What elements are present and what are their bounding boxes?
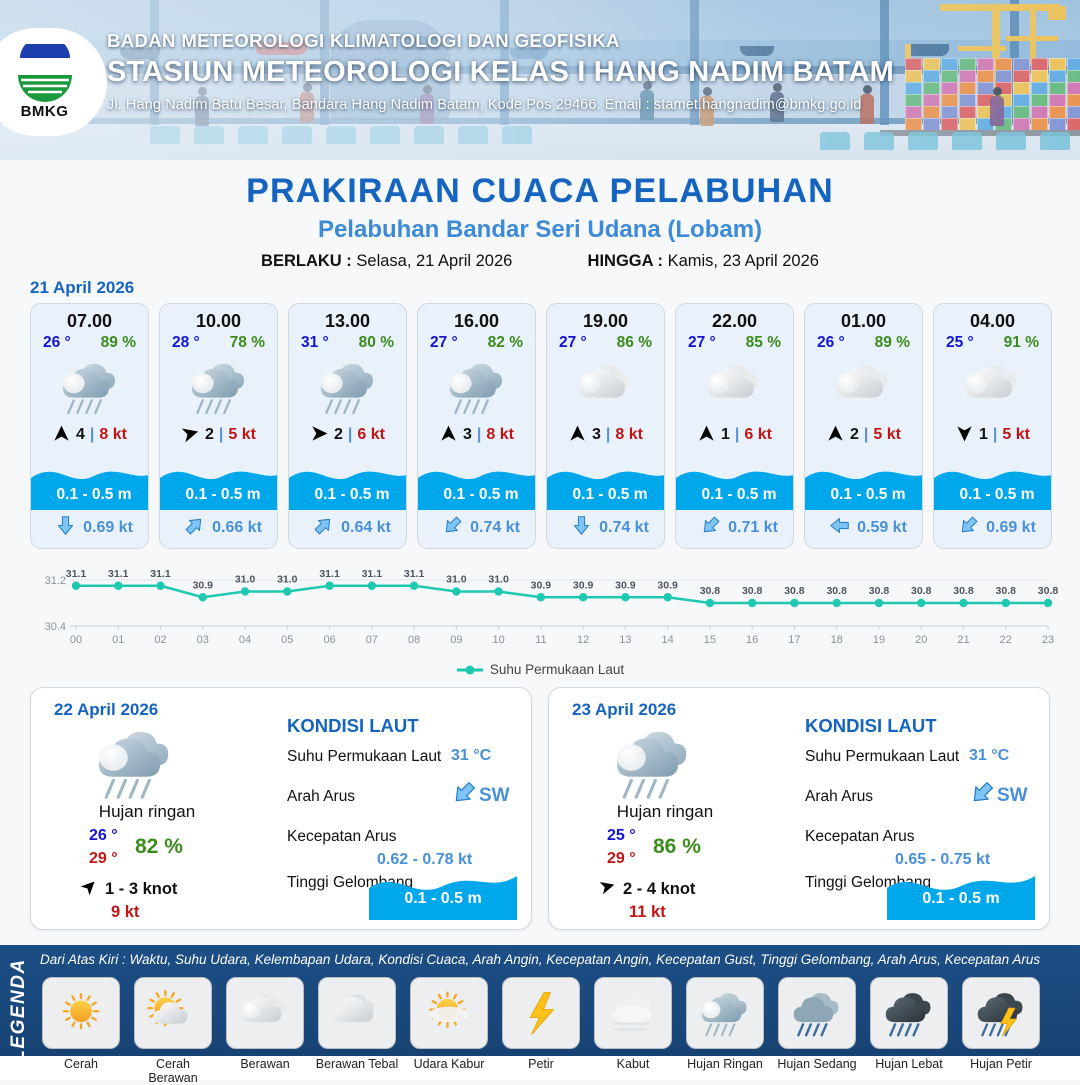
wind-direction-icon — [955, 424, 974, 446]
card-separator: | — [477, 426, 481, 444]
card-current-speed: 0.71 kt — [728, 519, 778, 537]
card-wave-height: 0.1 - 0.5 m — [418, 480, 536, 510]
card-current-speed: 0.59 kt — [857, 519, 907, 537]
sea-conditions-header: KONDISI LAUT — [287, 715, 419, 737]
sst-label: Suhu Permukaan Laut — [287, 748, 441, 766]
card-humidity: 80 % — [359, 334, 394, 352]
current-direction-icon — [451, 780, 477, 811]
agency-name: BADAN METEOROLOGI KLIMATOLOGI DAN GEOFIS… — [107, 30, 1067, 52]
current-direction-label: Arah Arus — [287, 788, 355, 806]
legend-icon-overcast — [318, 977, 396, 1049]
daily-gust: 9 kt — [111, 903, 139, 922]
card-temperature: 27 ° — [430, 334, 458, 352]
current-direction-icon — [55, 515, 76, 541]
card-temperature: 27 ° — [688, 334, 716, 352]
wind-direction-icon — [439, 424, 458, 446]
daily-condition: Hujan ringan — [549, 802, 781, 822]
card-wind-speed: 3 — [463, 426, 472, 444]
current-direction-icon — [700, 515, 721, 541]
card-current-row: 0.66 kt — [160, 512, 278, 544]
current-direction-icon — [571, 515, 592, 541]
card-temperature: 31 ° — [301, 334, 329, 352]
card-wind-row: 1|6 kt — [676, 421, 793, 449]
legend-icon-light-rain — [686, 977, 764, 1049]
hourly-card[interactable]: 10.0028 °78 %2|5 kt0.1 - 0.5 m0.66 kt — [159, 303, 278, 549]
legend-item-label: Hujan Ringan — [682, 1057, 768, 1085]
current-direction-value: SW — [997, 785, 1028, 807]
legend-item-label: Hujan Petir — [958, 1057, 1044, 1085]
current-direction-icon — [969, 780, 995, 811]
card-wind-speed: 2 — [205, 426, 214, 444]
daily-temp-max: 29 ° — [89, 850, 118, 868]
svg-text:17: 17 — [788, 634, 800, 646]
current-direction-icon — [313, 515, 334, 541]
header-text-block: BADAN METEOROLOGI KLIMATOLOGI DAN GEOFIS… — [107, 30, 1067, 113]
daily-panel: 23 April 2026Hujan ringan25 °29 °86 %2 -… — [548, 687, 1050, 930]
hourly-card[interactable]: 01.0026 °89 %2|5 kt0.1 - 0.5 m0.59 kt — [804, 303, 923, 549]
svg-text:31.0: 31.0 — [446, 574, 467, 586]
hourly-card[interactable]: 04.0025 °91 %1|5 kt0.1 - 0.5 m0.69 kt — [933, 303, 1052, 549]
wind-direction-icon — [181, 424, 200, 446]
card-wave-height: 0.1 - 0.5 m — [934, 480, 1052, 510]
card-current-row: 0.74 kt — [418, 512, 536, 544]
daily-wind-value: 2 - 4 knot — [623, 880, 695, 899]
current-direction-label: Arah Arus — [805, 788, 873, 806]
daily-wind: 1 - 3 knot — [81, 878, 177, 900]
svg-text:03: 03 — [197, 634, 209, 646]
legend-item-label: Udara Kabur — [406, 1057, 492, 1085]
card-temp-hum-row: 27 °82 % — [418, 332, 535, 352]
card-wave-height: 0.1 - 0.5 m — [547, 480, 665, 510]
card-temp-hum-row: 25 °91 % — [934, 332, 1051, 352]
daily-temp-min: 26 ° — [89, 827, 118, 845]
svg-text:31.1: 31.1 — [319, 568, 340, 580]
card-gust: 8 kt — [486, 426, 514, 444]
legend-item-label: Berawan — [222, 1057, 308, 1085]
card-wind-row: 1|5 kt — [934, 421, 1051, 449]
bmkg-logo: BMKG — [0, 28, 107, 136]
current-speed-label: Kecepatan Arus — [805, 828, 914, 846]
svg-text:30.8: 30.8 — [996, 585, 1017, 597]
svg-text:11: 11 — [535, 634, 546, 646]
svg-text:30.8: 30.8 — [742, 585, 763, 597]
card-current-row: 0.64 kt — [289, 512, 407, 544]
card-humidity: 86 % — [617, 334, 652, 352]
card-humidity: 89 % — [875, 334, 910, 352]
card-wind-row: 3|8 kt — [547, 421, 664, 449]
svg-text:30.8: 30.8 — [953, 585, 974, 597]
svg-text:22: 22 — [1000, 634, 1012, 646]
hingga-label: HINGGA : — [588, 252, 663, 270]
daily-wind-value: 1 - 3 knot — [105, 880, 177, 899]
svg-text:30.8: 30.8 — [784, 585, 805, 597]
card-current-speed: 0.69 kt — [986, 519, 1036, 537]
card-separator: | — [735, 426, 739, 444]
legend-icon-moderate-rain — [778, 977, 856, 1049]
card-weather-icon — [418, 353, 535, 421]
card-wind-row: 2|5 kt — [805, 421, 922, 449]
card-weather-icon — [805, 353, 922, 421]
card-current-row: 0.59 kt — [805, 512, 923, 544]
wind-direction-icon — [568, 424, 587, 446]
legend-item-label: Hujan Lebat — [866, 1057, 952, 1085]
svg-text:30.8: 30.8 — [869, 585, 890, 597]
card-current-row: 0.69 kt — [934, 512, 1052, 544]
card-temperature: 28 ° — [172, 334, 200, 352]
svg-text:30.9: 30.9 — [615, 579, 636, 591]
chart-legend-label: Suhu Permukaan Laut — [490, 662, 624, 677]
legend-item-label: Cerah Berawan — [130, 1057, 216, 1085]
card-current-row: 0.69 kt — [31, 512, 149, 544]
svg-text:10: 10 — [492, 634, 504, 646]
card-current-row: 0.71 kt — [676, 512, 794, 544]
svg-text:31.2: 31.2 — [45, 575, 66, 587]
card-time: 22.00 — [676, 311, 793, 332]
daily-temp-max: 29 ° — [607, 850, 636, 868]
card-wind-row: 2|6 kt — [289, 421, 406, 449]
card-time: 19.00 — [547, 311, 664, 332]
sst-value: 31 °C — [451, 747, 491, 765]
svg-text:30.9: 30.9 — [531, 579, 552, 591]
card-wind-row: 4|8 kt — [31, 421, 148, 449]
wind-direction-icon — [826, 424, 845, 446]
legend-icon-partly-cloudy — [134, 977, 212, 1049]
wave-height-value: 0.1 - 0.5 m — [887, 890, 1035, 908]
current-direction-value: SW — [479, 785, 510, 807]
card-wind-speed: 1 — [979, 426, 988, 444]
card-separator: | — [90, 426, 94, 444]
card-current-speed: 0.74 kt — [470, 519, 520, 537]
svg-text:31.1: 31.1 — [108, 568, 129, 580]
svg-text:05: 05 — [281, 634, 293, 646]
legend-icon-lightning — [502, 977, 580, 1049]
hourly-date-label: 21 April 2026 — [30, 278, 134, 298]
card-wave-height: 0.1 - 0.5 m — [160, 480, 278, 510]
svg-text:30.8: 30.8 — [700, 585, 721, 597]
svg-text:16: 16 — [746, 634, 758, 646]
card-temperature: 26 ° — [817, 334, 845, 352]
svg-text:30.9: 30.9 — [573, 579, 594, 591]
legend-icon-fog — [594, 977, 672, 1049]
card-time: 04.00 — [934, 311, 1051, 332]
legend-icon-haze — [410, 977, 488, 1049]
hingga-value: Kamis, 23 April 2026 — [668, 252, 819, 270]
svg-text:14: 14 — [662, 634, 674, 646]
svg-text:30.8: 30.8 — [826, 585, 847, 597]
bmkg-logo-text: BMKG — [21, 103, 69, 120]
daily-panel: 22 April 2026Hujan ringan26 °29 °82 %1 -… — [30, 687, 532, 930]
card-separator: | — [606, 426, 610, 444]
svg-text:30.8: 30.8 — [1038, 585, 1058, 597]
svg-text:23: 23 — [1042, 634, 1054, 646]
current-speed-label: Kecepatan Arus — [287, 828, 396, 846]
card-temp-hum-row: 28 °78 % — [160, 332, 277, 352]
wind-direction-icon — [310, 424, 329, 446]
card-wave-height: 0.1 - 0.5 m — [676, 480, 794, 510]
card-gust: 6 kt — [744, 426, 772, 444]
card-current-row: 0.74 kt — [547, 512, 665, 544]
station-address: Jl. Hang Nadim Batu Besar, Bandara Hang … — [107, 97, 1067, 113]
svg-text:04: 04 — [239, 634, 251, 646]
card-gust: 5 kt — [1002, 426, 1030, 444]
sea-conditions-header: KONDISI LAUT — [805, 715, 937, 737]
hourly-forecast-strip: 07.0026 °89 %4|8 kt0.1 - 0.5 m0.69 kt10.… — [30, 303, 1052, 549]
svg-text:31.0: 31.0 — [235, 574, 256, 586]
card-current-speed: 0.66 kt — [212, 519, 262, 537]
svg-text:15: 15 — [704, 634, 716, 646]
daily-humidity: 82 % — [135, 835, 183, 859]
card-gust: 8 kt — [99, 426, 127, 444]
card-wind-speed: 2 — [334, 426, 343, 444]
svg-text:18: 18 — [831, 634, 843, 646]
daily-date: 22 April 2026 — [54, 700, 158, 720]
card-wave-height: 0.1 - 0.5 m — [289, 480, 407, 510]
current-direction-icon — [184, 515, 205, 541]
legend-item-label: Hujan Sedang — [774, 1057, 860, 1085]
svg-text:31.0: 31.0 — [488, 574, 509, 586]
wind-direction-icon — [52, 424, 71, 446]
card-weather-icon — [934, 353, 1051, 421]
station-name: STASIUN METEOROLOGI KELAS I HANG NADIM B… — [107, 56, 1067, 89]
sst-chart: 31.230.400010203040506070809101112131415… — [24, 556, 1058, 652]
card-humidity: 85 % — [746, 334, 781, 352]
card-current-speed: 0.64 kt — [341, 519, 391, 537]
card-weather-icon — [289, 353, 406, 421]
card-gust: 6 kt — [357, 426, 385, 444]
chart-legend: Suhu Permukaan Laut — [0, 662, 1080, 677]
card-humidity: 91 % — [1004, 334, 1039, 352]
legend-icon-thunderstorm — [962, 977, 1040, 1049]
legend-item-label: Petir — [498, 1057, 584, 1085]
wind-direction-icon — [599, 878, 616, 900]
card-wind-row: 3|8 kt — [418, 421, 535, 449]
svg-text:30.4: 30.4 — [45, 621, 66, 633]
card-temperature: 25 ° — [946, 334, 974, 352]
svg-text:31.1: 31.1 — [362, 568, 383, 580]
card-weather-icon — [547, 353, 664, 421]
svg-text:31.1: 31.1 — [404, 568, 425, 580]
legend-icon-sunny — [42, 977, 120, 1049]
svg-text:31.0: 31.0 — [277, 574, 298, 586]
card-humidity: 89 % — [101, 334, 136, 352]
card-gust: 5 kt — [873, 426, 901, 444]
card-wind-speed: 1 — [721, 426, 730, 444]
svg-text:20: 20 — [915, 634, 927, 646]
legend-icon-cloudy — [226, 977, 304, 1049]
card-separator: | — [864, 426, 868, 444]
hourly-card[interactable]: 07.0026 °89 %4|8 kt0.1 - 0.5 m0.69 kt — [30, 303, 149, 549]
berlaku-value: Selasa, 21 April 2026 — [356, 252, 512, 270]
wave-graphic: 0.1 - 0.5 m — [369, 866, 517, 920]
card-time: 10.00 — [160, 311, 277, 332]
card-separator: | — [219, 426, 223, 444]
card-weather-icon — [160, 353, 277, 421]
berlaku-label: BERLAKU : — [261, 252, 352, 270]
svg-text:21: 21 — [957, 634, 969, 646]
svg-text:19: 19 — [873, 634, 885, 646]
card-wind-row: 2|5 kt — [160, 421, 277, 449]
daily-date: 23 April 2026 — [572, 700, 676, 720]
card-gust: 5 kt — [228, 426, 256, 444]
legend-item-label: Cerah — [38, 1057, 124, 1085]
daily-condition: Hujan ringan — [31, 802, 263, 822]
card-gust: 8 kt — [615, 426, 643, 444]
card-weather-icon — [676, 353, 793, 421]
svg-text:30.9: 30.9 — [657, 579, 678, 591]
daily-humidity: 86 % — [653, 835, 701, 859]
daily-temp-min: 25 ° — [607, 827, 636, 845]
svg-text:31.1: 31.1 — [66, 568, 87, 580]
card-weather-icon — [31, 353, 148, 421]
legend-note: Dari Atas Kiri : Waktu, Suhu Udara, Kele… — [40, 952, 1040, 967]
bmkg-logo-mark — [14, 44, 76, 102]
svg-text:08: 08 — [408, 634, 420, 646]
card-time: 01.00 — [805, 311, 922, 332]
hourly-card[interactable]: 13.0031 °80 %2|6 kt0.1 - 0.5 m0.64 kt — [288, 303, 407, 549]
svg-text:02: 02 — [154, 634, 166, 646]
current-direction-icon — [442, 515, 463, 541]
card-temperature: 27 ° — [559, 334, 587, 352]
hourly-card[interactable]: 22.0027 °85 %1|6 kt0.1 - 0.5 m0.71 kt — [675, 303, 794, 549]
svg-text:07: 07 — [366, 634, 378, 646]
card-humidity: 78 % — [230, 334, 265, 352]
daily-wind: 2 - 4 knot — [599, 878, 695, 900]
legend-item-label: Kabut — [590, 1057, 676, 1085]
page-subtitle: Pelabuhan Bandar Seri Udana (Lobam) — [0, 216, 1080, 244]
wave-graphic: 0.1 - 0.5 m — [887, 866, 1035, 920]
card-temp-hum-row: 27 °86 % — [547, 332, 664, 352]
svg-text:09: 09 — [450, 634, 462, 646]
svg-text:31.1: 31.1 — [150, 568, 171, 580]
card-separator: | — [348, 426, 352, 444]
page-title: PRAKIRAAN CUACA PELABUHAN — [0, 172, 1080, 211]
card-wave-height: 0.1 - 0.5 m — [31, 480, 149, 510]
legend-icon-heavy-rain — [870, 977, 948, 1049]
card-time: 16.00 — [418, 311, 535, 332]
daily-weather-icon — [605, 724, 701, 806]
card-current-speed: 0.74 kt — [599, 519, 649, 537]
legend-caption-row: CerahCerah BerawanBerawanBerawan TebalUd… — [38, 1057, 1078, 1085]
wind-direction-icon — [81, 878, 98, 900]
sst-label: Suhu Permukaan Laut — [805, 748, 959, 766]
sst-value: 31 °C — [969, 747, 1009, 765]
svg-text:01: 01 — [112, 634, 124, 646]
daily-gust: 11 kt — [629, 903, 666, 922]
current-direction-value-row: SW — [969, 780, 1028, 811]
svg-text:30.9: 30.9 — [193, 579, 214, 591]
legend-item-label: Berawan Tebal — [314, 1057, 400, 1085]
card-temp-hum-row: 26 °89 % — [31, 332, 148, 352]
validity-row: BERLAKU : Selasa, 21 April 2026 HINGGA :… — [0, 252, 1080, 271]
card-temp-hum-row: 27 °85 % — [676, 332, 793, 352]
card-wave-height: 0.1 - 0.5 m — [805, 480, 923, 510]
svg-text:06: 06 — [323, 634, 335, 646]
card-wind-speed: 2 — [850, 426, 859, 444]
card-separator: | — [993, 426, 997, 444]
svg-text:30.8: 30.8 — [911, 585, 932, 597]
svg-text:12: 12 — [577, 634, 589, 646]
card-time: 13.00 — [289, 311, 406, 332]
card-current-speed: 0.69 kt — [83, 519, 133, 537]
chart-legend-marker-icon — [456, 664, 484, 676]
wind-direction-icon — [697, 424, 716, 446]
card-wind-speed: 3 — [592, 426, 601, 444]
card-humidity: 82 % — [488, 334, 523, 352]
svg-text:00: 00 — [70, 634, 82, 646]
card-temperature: 26 ° — [43, 334, 71, 352]
current-direction-icon — [829, 515, 850, 541]
current-direction-value-row: SW — [451, 780, 510, 811]
hourly-card[interactable]: 19.0027 °86 %3|8 kt0.1 - 0.5 m0.74 kt — [546, 303, 665, 549]
current-direction-icon — [958, 515, 979, 541]
wave-height-value: 0.1 - 0.5 m — [369, 890, 517, 908]
daily-weather-icon — [87, 724, 183, 806]
svg-text:13: 13 — [619, 634, 631, 646]
card-temp-hum-row: 26 °89 % — [805, 332, 922, 352]
header-banner: BMKG BADAN METEOROLOGI KLIMATOLOGI DAN G… — [0, 0, 1080, 160]
card-wind-speed: 4 — [76, 426, 85, 444]
card-temp-hum-row: 31 °80 % — [289, 332, 406, 352]
card-time: 07.00 — [31, 311, 148, 332]
hourly-card[interactable]: 16.0027 °82 %3|8 kt0.1 - 0.5 m0.74 kt — [417, 303, 536, 549]
